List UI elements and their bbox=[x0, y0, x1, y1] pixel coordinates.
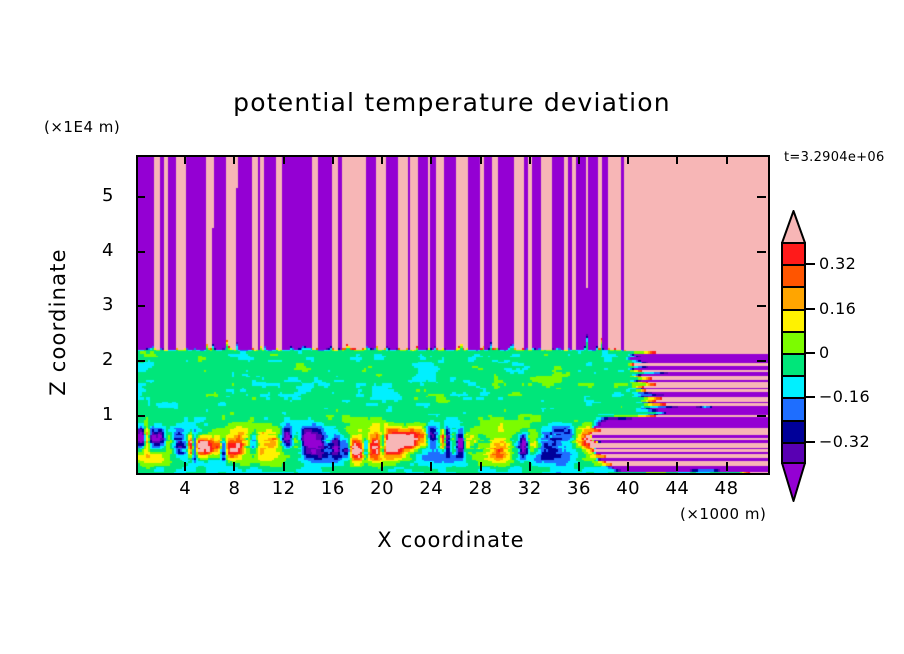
x-tick bbox=[480, 155, 482, 164]
y-tick-label: 5 bbox=[78, 185, 114, 206]
y-tick-label: 2 bbox=[78, 349, 114, 370]
y-tick bbox=[757, 251, 766, 253]
x-tick bbox=[430, 462, 432, 471]
colorbar-tick bbox=[806, 396, 815, 398]
x-tick bbox=[283, 462, 285, 471]
colorbar-tick-label: −0.16 bbox=[819, 387, 870, 406]
colorbar-tick bbox=[806, 352, 815, 354]
x-tick bbox=[184, 462, 186, 471]
y-tick-label: 4 bbox=[78, 240, 114, 261]
x-tick bbox=[578, 155, 580, 164]
x-axis-title: X coordinate bbox=[136, 528, 766, 552]
y-tick bbox=[136, 251, 145, 253]
colorbar-tick-label: −0.32 bbox=[819, 432, 870, 451]
y-tick-label: 3 bbox=[78, 294, 114, 315]
colorbar-tick-label: 0.16 bbox=[819, 299, 856, 318]
colorbar-cell bbox=[783, 422, 804, 444]
colorbar-tick-label: 0 bbox=[819, 343, 830, 362]
y-tick bbox=[136, 360, 145, 362]
colorbar-tick bbox=[806, 263, 815, 265]
x-tick bbox=[726, 462, 728, 471]
colorbar-cell bbox=[783, 355, 804, 377]
x-tick bbox=[627, 155, 629, 164]
x-tick bbox=[529, 462, 531, 471]
contour-plot-area bbox=[136, 155, 770, 475]
colorbar-cell bbox=[783, 377, 804, 399]
x-tick bbox=[430, 155, 432, 164]
y-tick bbox=[136, 415, 145, 417]
colorbar-scale bbox=[781, 242, 806, 464]
contour-field bbox=[138, 157, 768, 473]
y-tick bbox=[136, 305, 145, 307]
x-tick bbox=[184, 155, 186, 164]
y-tick bbox=[757, 196, 766, 198]
x-tick bbox=[480, 462, 482, 471]
x-tick bbox=[332, 462, 334, 471]
y-tick-label: 1 bbox=[78, 404, 114, 425]
x-tick bbox=[676, 155, 678, 164]
colorbar-tick bbox=[806, 308, 815, 310]
colorbar-cell bbox=[783, 266, 804, 288]
colorbar-tick bbox=[806, 441, 815, 443]
x-tick bbox=[233, 155, 235, 164]
colorbar-cell bbox=[783, 399, 804, 421]
x-axis-unit-label: (×1000 m) bbox=[680, 505, 766, 523]
x-tick bbox=[381, 462, 383, 471]
time-annotation: t=3.2904e+06 bbox=[784, 150, 885, 165]
colorbar-under-arrow-icon bbox=[781, 462, 806, 502]
y-tick bbox=[757, 360, 766, 362]
page-title: potential temperature deviation bbox=[0, 88, 904, 117]
colorbar-cell bbox=[783, 244, 804, 266]
x-tick-label: 48 bbox=[697, 478, 757, 499]
x-tick bbox=[332, 155, 334, 164]
colorbar-cell bbox=[783, 311, 804, 333]
figure-root: potential temperature deviation (×1E4 m)… bbox=[0, 0, 904, 654]
y-tick bbox=[757, 415, 766, 417]
x-tick bbox=[381, 155, 383, 164]
x-tick bbox=[529, 155, 531, 164]
x-tick bbox=[578, 462, 580, 471]
y-axis-title: Z coordinate bbox=[46, 202, 70, 442]
y-tick bbox=[757, 305, 766, 307]
x-tick bbox=[233, 462, 235, 471]
x-tick bbox=[283, 155, 285, 164]
colorbar-cell bbox=[783, 333, 804, 355]
x-tick bbox=[627, 462, 629, 471]
colorbar-over-arrow-icon bbox=[781, 210, 806, 244]
colorbar-cell bbox=[783, 288, 804, 310]
x-tick bbox=[676, 462, 678, 471]
y-axis-unit-label: (×1E4 m) bbox=[44, 118, 120, 136]
colorbar-tick-label: 0.32 bbox=[819, 254, 856, 273]
x-tick bbox=[726, 155, 728, 164]
y-tick bbox=[136, 196, 145, 198]
